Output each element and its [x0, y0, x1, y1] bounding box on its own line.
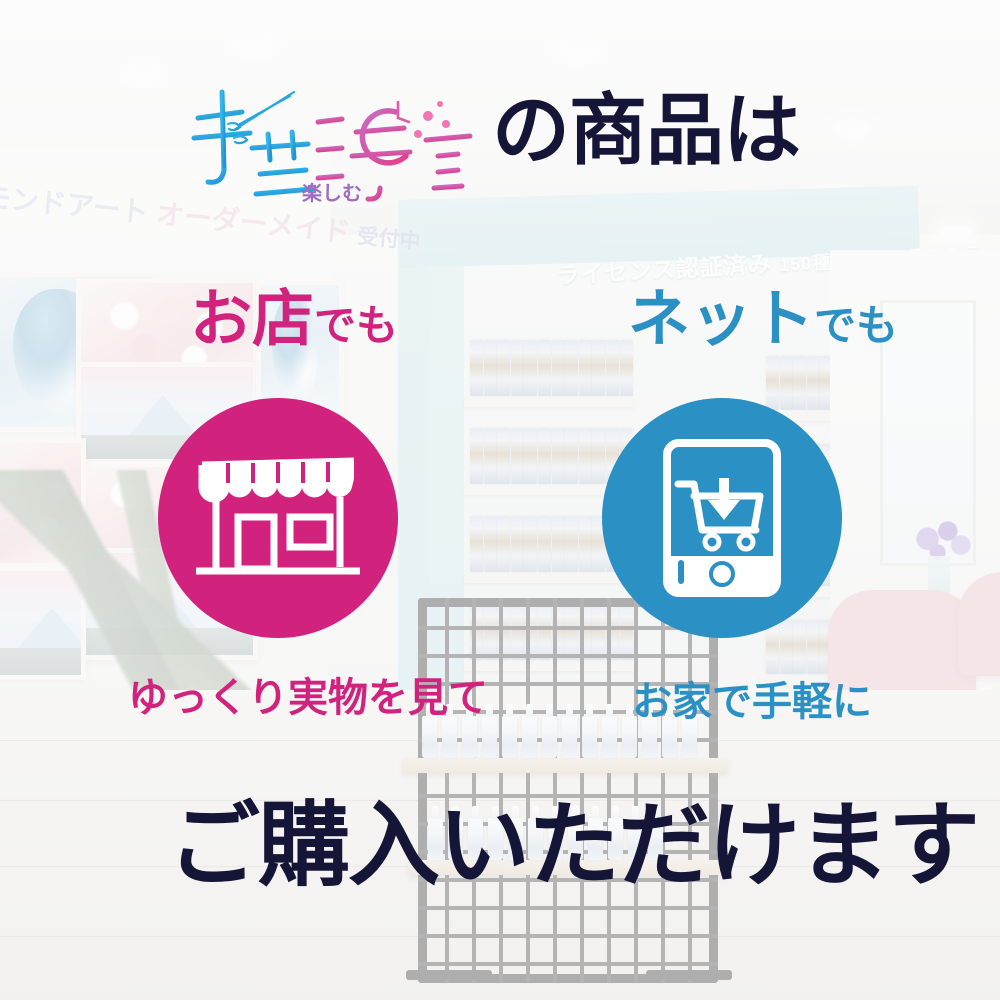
net-label-big: ネット — [628, 282, 814, 355]
brand-logo-art: 楽しむ — [190, 78, 490, 208]
shop-label-big: お店 — [190, 282, 314, 355]
logo-subtext: 楽しむ — [302, 181, 362, 205]
net-caption: お家で手軽に — [632, 682, 872, 722]
headline-top: の商品は — [492, 92, 800, 170]
foreground-layer: 楽しむ の商品は お店でも — [0, 0, 1000, 1000]
promo-banner: ライセンス認証済み 150種類以上の品ぞろえ モンドアート オーダーメイド 受付… — [0, 0, 1000, 1000]
shop-caption: ゆっくり実物を見て — [128, 678, 488, 718]
storefront-icon — [194, 443, 362, 593]
mobile-shopping-cart-icon — [662, 438, 782, 598]
shop-label: お店でも — [190, 288, 398, 350]
net-label-small: でも — [814, 301, 898, 350]
net-circle — [602, 398, 842, 638]
brand-logo: 楽しむ — [190, 78, 490, 208]
headline-bottom: ご購入いただけます — [168, 800, 978, 892]
shop-circle — [158, 398, 398, 638]
net-label: ネットでも — [628, 288, 898, 350]
shop-label-small: でも — [314, 301, 398, 350]
